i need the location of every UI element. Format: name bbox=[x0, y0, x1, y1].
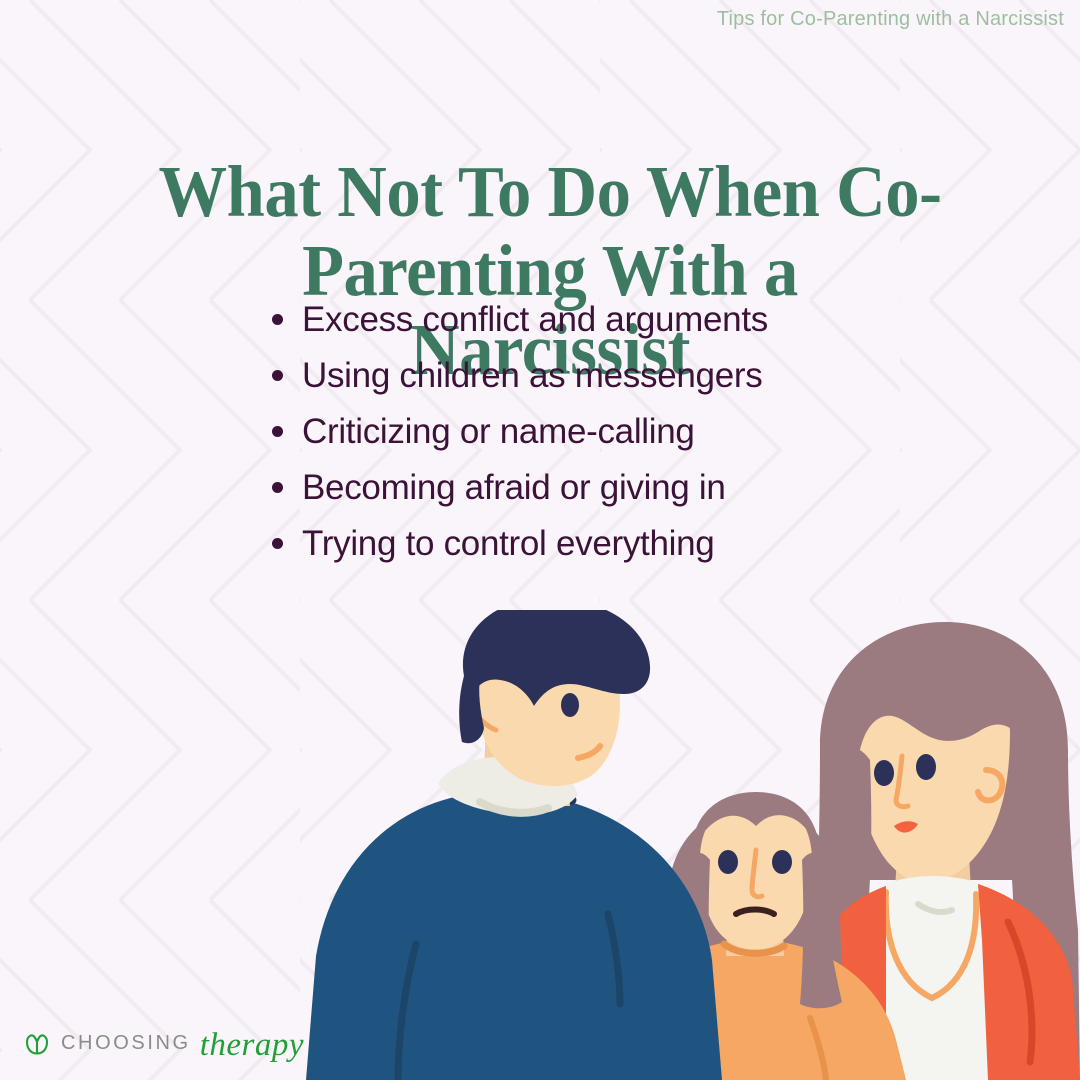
bullet-dot-icon bbox=[272, 538, 283, 549]
father-eye bbox=[561, 693, 579, 717]
bullet-dot-icon bbox=[272, 370, 283, 381]
father-figure bbox=[306, 610, 722, 1080]
child-left-eye bbox=[718, 850, 738, 874]
tips-bullet-list: Excess conflict and arguments Using chil… bbox=[272, 300, 768, 580]
brand-logo[interactable]: CHOOSING therapy bbox=[22, 1025, 304, 1062]
family-of-three-illustration bbox=[0, 610, 1080, 1080]
logo-word-therapy: therapy bbox=[200, 1027, 304, 1064]
header-eyebrow-text: Tips for Co-Parenting with a Narcissist bbox=[717, 8, 1064, 31]
list-item: Excess conflict and arguments bbox=[272, 300, 768, 356]
list-item-label: Trying to control everything bbox=[302, 524, 714, 564]
bullet-dot-icon bbox=[272, 426, 283, 437]
child-right-eye bbox=[772, 850, 792, 874]
infographic-canvas: Tips for Co-Parenting with a Narcissist … bbox=[0, 0, 1080, 1080]
logo-word-choosing: CHOOSING bbox=[61, 1032, 191, 1055]
list-item: Trying to control everything bbox=[272, 524, 768, 580]
leaf-flower-icon bbox=[22, 1029, 52, 1059]
mother-eye-outer bbox=[874, 760, 894, 786]
list-item: Criticizing or name-calling bbox=[272, 412, 768, 468]
list-item: Using children as messengers bbox=[272, 356, 768, 412]
bullet-dot-icon bbox=[272, 314, 283, 325]
bullet-dot-icon bbox=[272, 482, 283, 493]
list-item-label: Excess conflict and arguments bbox=[302, 300, 768, 340]
list-item-label: Criticizing or name-calling bbox=[302, 412, 695, 452]
list-item-label: Using children as messengers bbox=[302, 356, 762, 396]
mother-eye-inner bbox=[916, 754, 936, 780]
list-item-label: Becoming afraid or giving in bbox=[302, 468, 726, 508]
list-item: Becoming afraid or giving in bbox=[272, 468, 768, 524]
father-sweater bbox=[306, 792, 722, 1080]
